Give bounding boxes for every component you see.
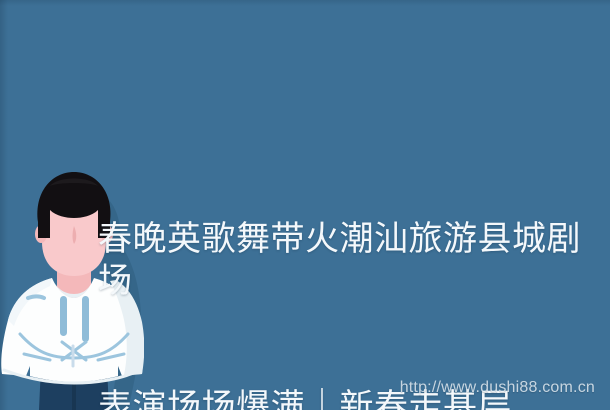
site-watermark: http://www.dushi88.com.cn bbox=[400, 379, 595, 397]
page-title: 春晚英歌舞带火潮汕旅游县城剧场 表演场场爆满｜新春走基层 bbox=[98, 134, 598, 410]
top-edge-shading bbox=[0, 0, 610, 6]
article-cover-card: 春晚英歌舞带火潮汕旅游县城剧场 表演场场爆满｜新春走基层 http://www.… bbox=[0, 0, 610, 410]
headline-line-1: 春晚英歌舞带火潮汕旅游县城剧场 bbox=[98, 218, 598, 302]
